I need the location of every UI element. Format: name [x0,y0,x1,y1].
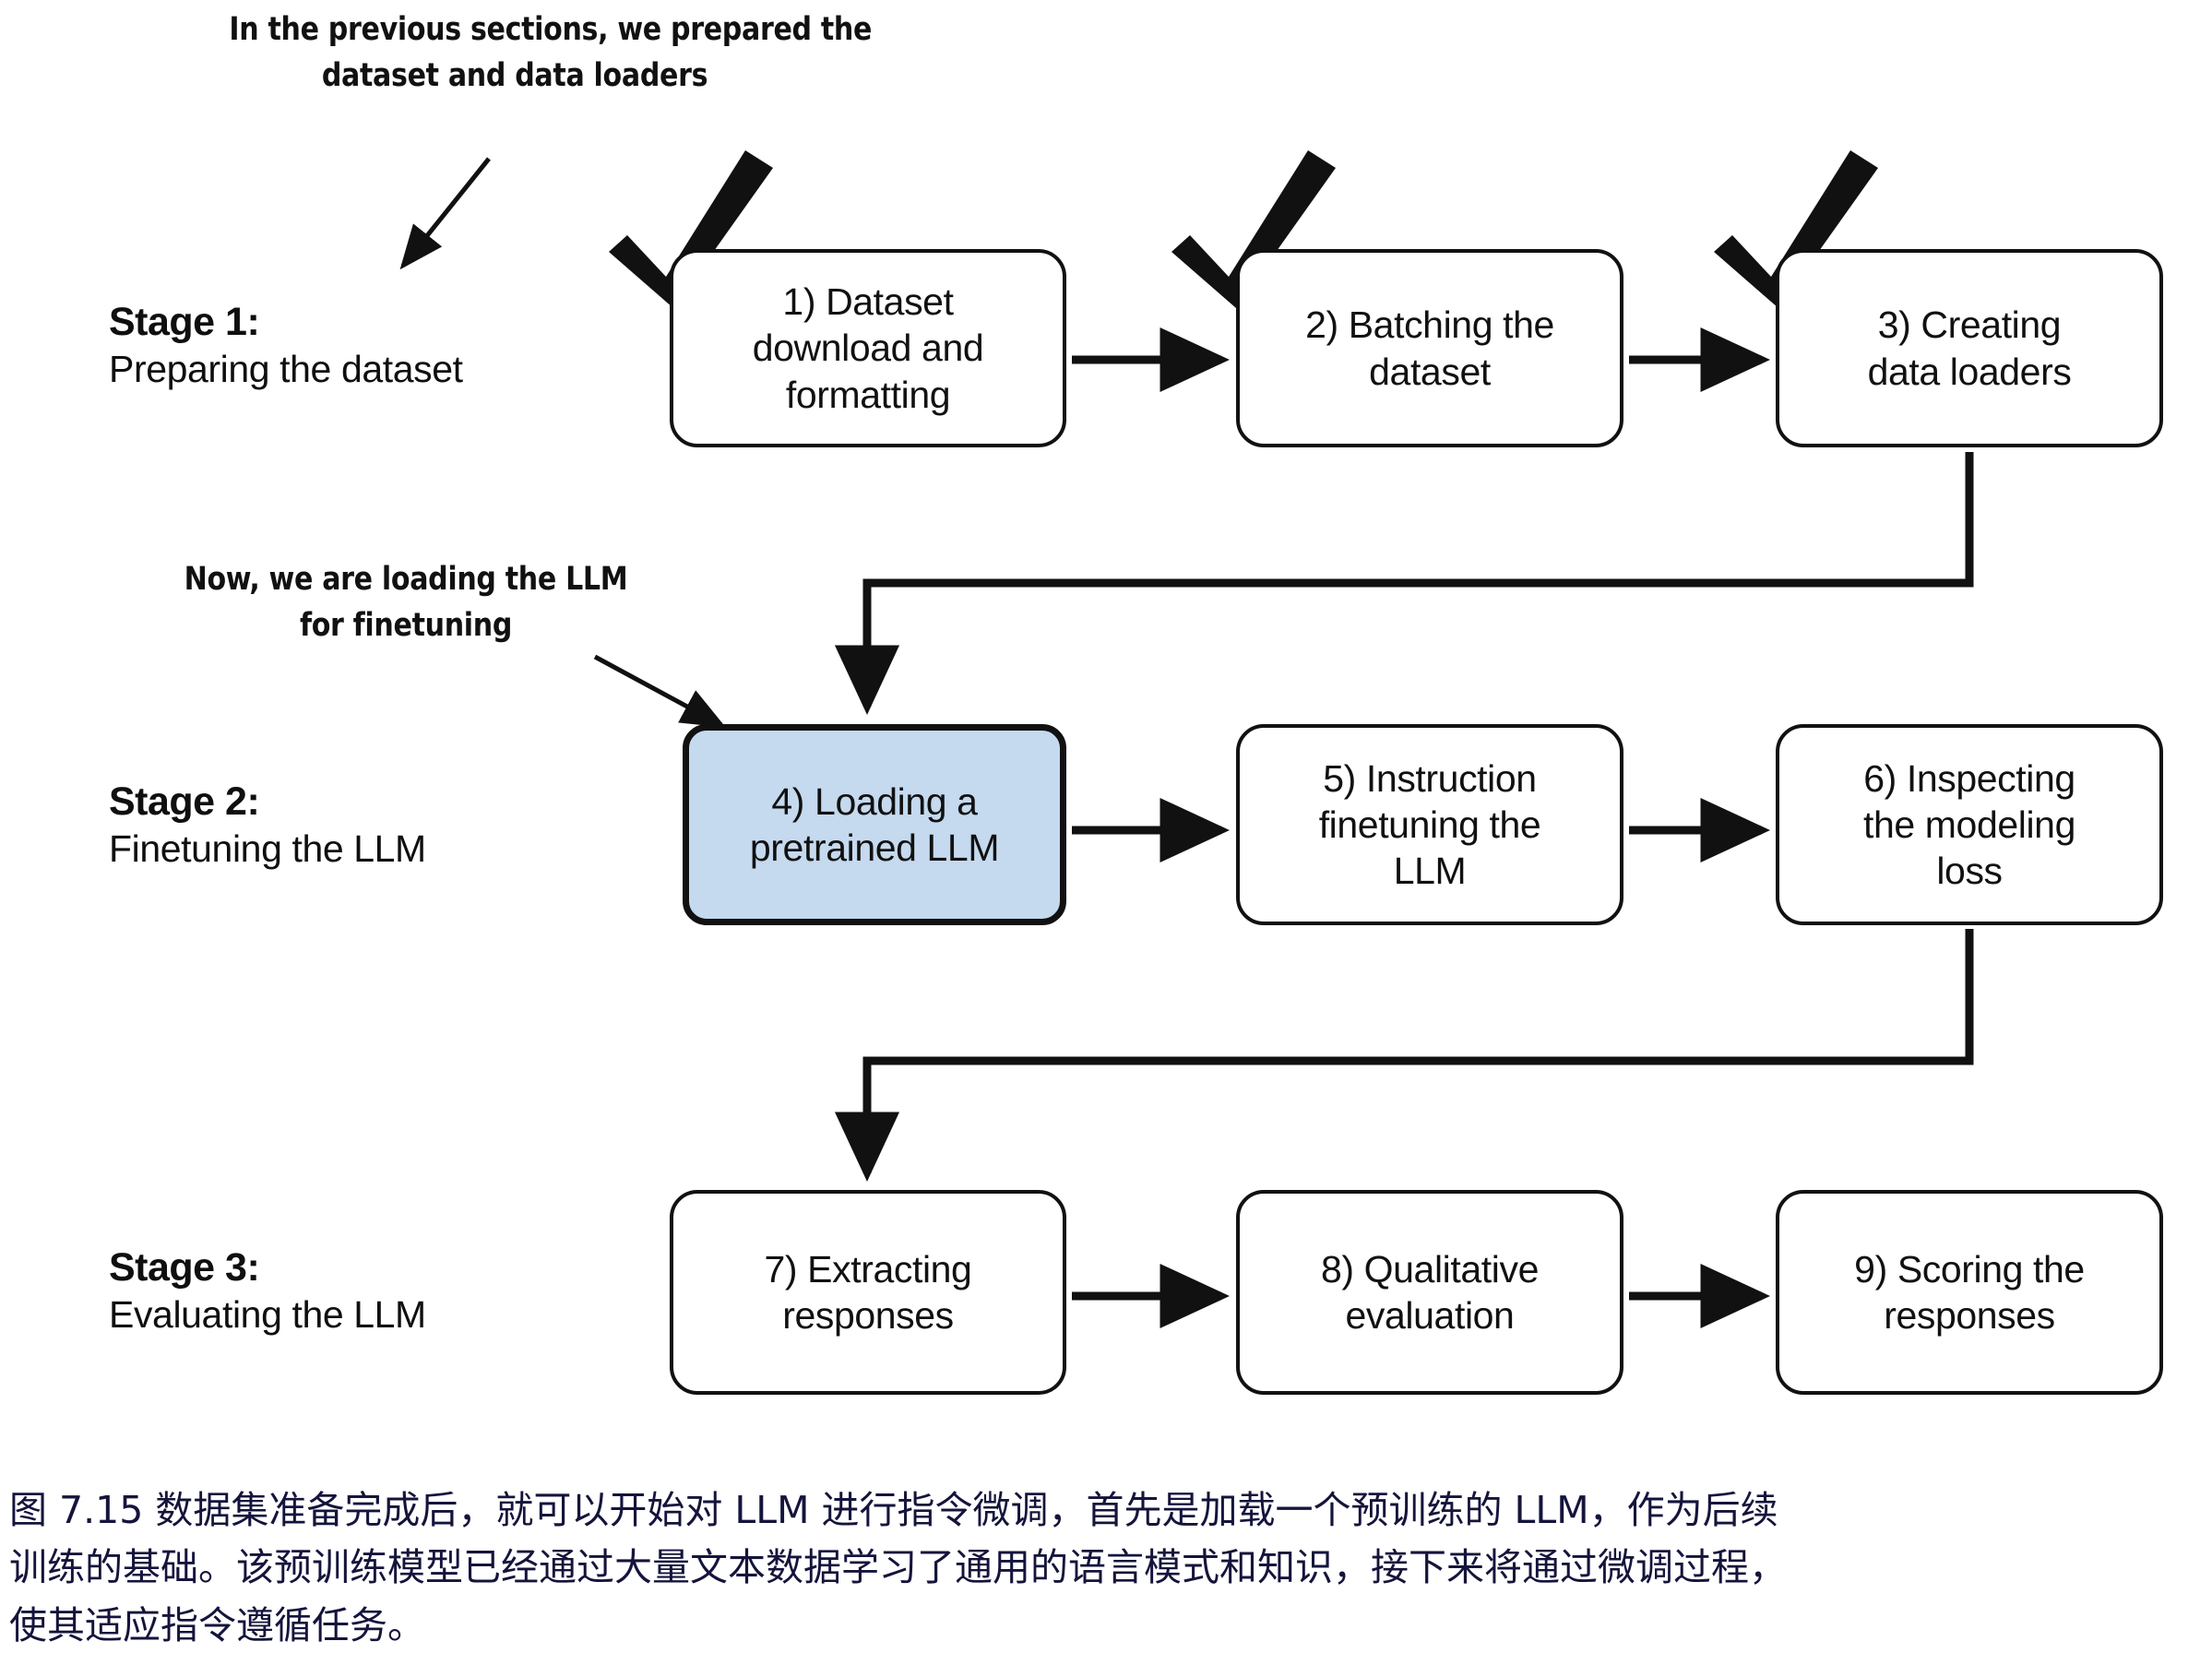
process-box-step-7[interactable]: 7) Extracting responses [670,1190,1066,1395]
flow-diagram: In the previous sections, we prepared th… [0,0,2212,1476]
process-box-step-4[interactable]: 4) Loading a pretrained LLM [683,724,1066,925]
process-box-step-5[interactable]: 5) Instruction finetuning the LLM [1236,724,1623,925]
process-box-step-2[interactable]: 2) Batching the dataset [1236,249,1623,447]
step-3-line-2: data loaders [1868,349,2072,395]
step-1-line-1: 1) Dataset [753,279,984,325]
step-4-line-1: 4) Loading a [750,779,999,825]
stage-1-subtitle: Preparing the dataset [109,346,463,392]
stage-label-3: Stage 3: Evaluating the LLM [109,1245,426,1338]
connector-3-to-4 [867,452,1969,707]
annotation-loading-llm: Now, we are loading the LLM for finetuni… [168,557,644,648]
figure-caption-line-3: 使其适应指令遵循任务。 [9,1597,2205,1654]
step-1-line-3: formatting [753,372,984,418]
stage-3-subtitle: Evaluating the LLM [109,1291,426,1338]
step-1-line-2: download and [753,325,984,371]
step-6-line-2: the modeling [1863,802,2075,848]
step-9-line-1: 9) Scoring the [1854,1246,2085,1292]
process-box-step-6[interactable]: 6) Inspecting the modeling loss [1776,724,2163,925]
step-5-line-3: LLM [1319,848,1541,894]
connector-6-to-7 [867,929,1969,1173]
step-6-line-1: 6) Inspecting [1863,755,2075,802]
annotation-loading-llm-line-1: Now, we are loading the LLM [168,557,644,603]
step-5-line-1: 5) Instruction [1319,755,1541,802]
stage-2-title: Stage 2: [109,779,426,826]
annotation-loading-llm-line-2: for finetuning [168,603,644,649]
annotation-previous-sections: In the previous sections, we prepared th… [229,7,800,99]
annotation-arrow-2 [595,657,721,725]
figure-caption-line-1: 图 7.15 数据集准备完成后，就可以开始对 LLM 进行指令微调，首先是加载一… [9,1481,2205,1539]
stage-label-2: Stage 2: Finetuning the LLM [109,779,426,872]
figure-caption: 图 7.15 数据集准备完成后，就可以开始对 LLM 进行指令微调，首先是加载一… [9,1481,2205,1654]
step-7-line-1: 7) Extracting [765,1246,972,1292]
figure-canvas: In the previous sections, we prepared th… [0,0,2212,1677]
process-box-step-8[interactable]: 8) Qualitative evaluation [1236,1190,1623,1395]
stage-2-subtitle: Finetuning the LLM [109,826,426,872]
step-7-line-2: responses [765,1292,972,1338]
process-box-step-9[interactable]: 9) Scoring the responses [1776,1190,2163,1395]
step-5-line-2: finetuning the [1319,802,1541,848]
annotation-arrow-1 [403,159,489,266]
step-2-line-1: 2) Batching the [1305,302,1554,348]
annotation-previous-sections-line-2: dataset and data loaders [229,54,800,100]
step-6-line-3: loss [1863,848,2075,894]
stage-3-title: Stage 3: [109,1245,426,1291]
figure-caption-line-2: 训练的基础。该预训练模型已经通过大量文本数据学习了通用的语言模式和知识，接下来将… [9,1539,2205,1596]
step-4-line-2: pretrained LLM [750,825,999,871]
step-8-line-1: 8) Qualitative [1321,1246,1539,1292]
process-box-step-1[interactable]: 1) Dataset download and formatting [670,249,1066,447]
process-box-step-3[interactable]: 3) Creating data loaders [1776,249,2163,447]
step-2-line-2: dataset [1305,349,1554,395]
stage-1-title: Stage 1: [109,300,463,346]
step-3-line-1: 3) Creating [1868,302,2072,348]
step-9-line-2: responses [1854,1292,2085,1338]
step-8-line-2: evaluation [1321,1292,1539,1338]
stage-label-1: Stage 1: Preparing the dataset [109,300,463,392]
annotation-previous-sections-line-1: In the previous sections, we prepared th… [229,7,800,54]
